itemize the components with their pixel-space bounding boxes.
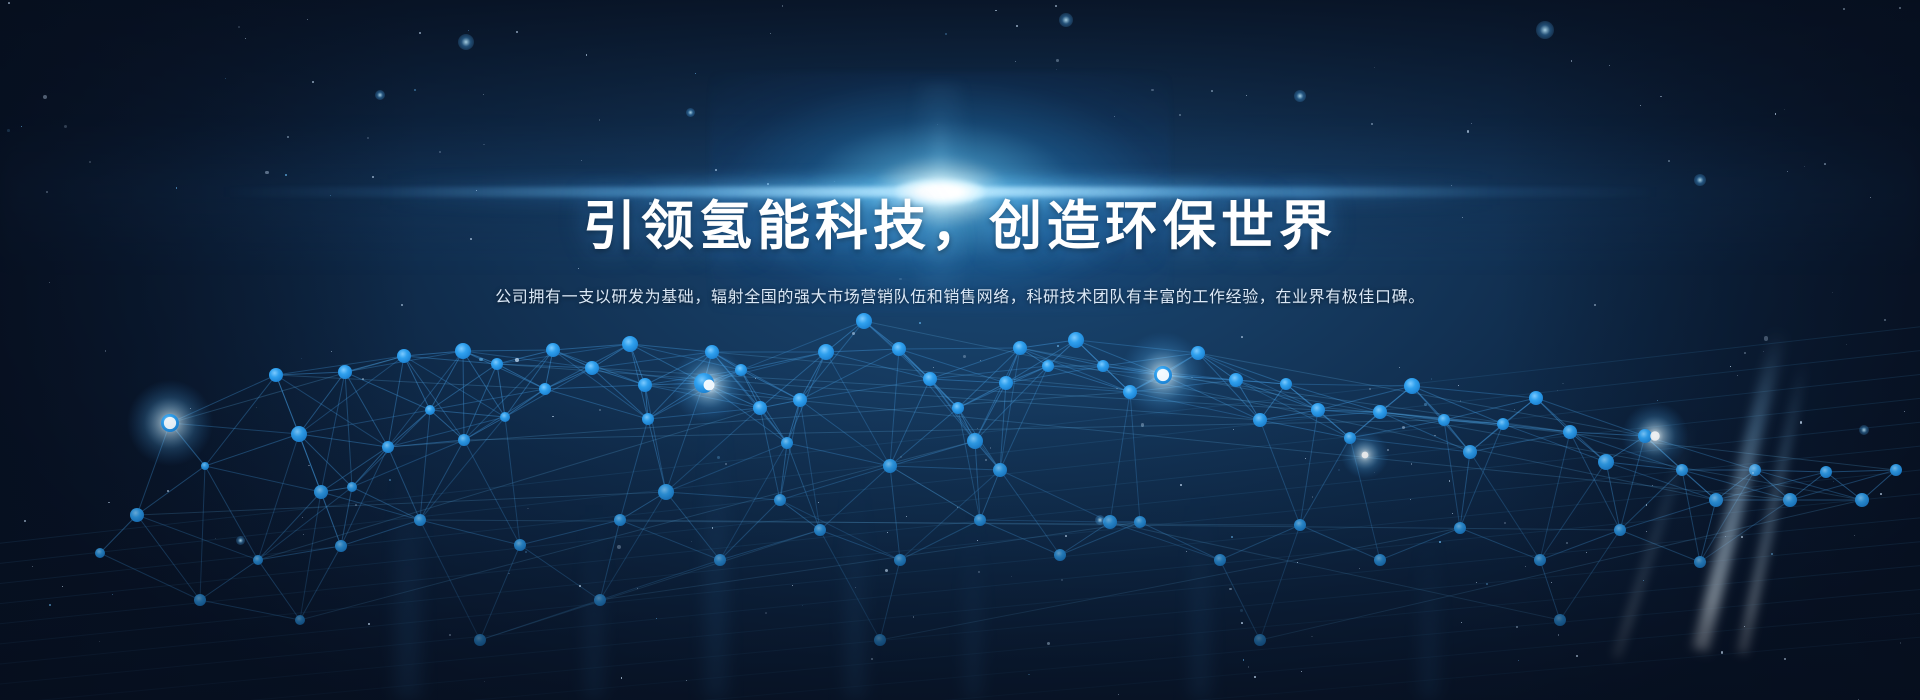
bottom-vignette: [0, 400, 1920, 700]
page-subtitle: 公司拥有一支以研发为基础，辐射全国的强大市场营销队伍和销售网络，科研技术团队有丰…: [0, 285, 1920, 311]
page-title: 引领氢能科技，创造环保世界: [0, 196, 1920, 259]
hero-copy: 引领氢能科技，创造环保世界 公司拥有一支以研发为基础，辐射全国的强大市场营销队伍…: [0, 196, 1920, 310]
hero-banner: 引领氢能科技，创造环保世界 公司拥有一支以研发为基础，辐射全国的强大市场营销队伍…: [0, 0, 1920, 700]
